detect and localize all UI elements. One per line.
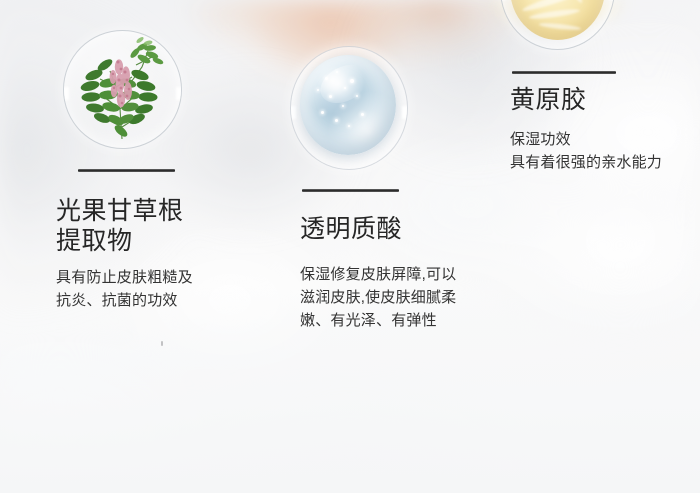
divider-line-hyaluronic bbox=[302, 189, 399, 192]
sparkle-icon bbox=[356, 95, 358, 97]
ingredient-title-hyaluronic: 透明质酸 bbox=[300, 214, 500, 244]
sparkle-icon bbox=[325, 77, 328, 80]
gum-streak bbox=[529, 8, 581, 21]
ingredient-title-xanthan: 黄原胶 bbox=[510, 85, 700, 115]
divider-line-xanthan bbox=[512, 71, 616, 74]
ingredient-infographic-page: 光果甘草根 提取物 具有防止皮肤粗糙及 抗炎、抗菌的功效 透明质酸 保湿修复皮肤… bbox=[0, 0, 700, 493]
water-droplet-body bbox=[300, 55, 396, 155]
droplet-highlight bbox=[314, 57, 374, 110]
sparkle-icon bbox=[321, 111, 324, 114]
licorice-plant-illustration-icon bbox=[63, 30, 182, 149]
sparkle-icon bbox=[335, 119, 338, 122]
licorice-plant-svg bbox=[64, 31, 181, 148]
gum-streak bbox=[538, 21, 580, 30]
sparkle-icon bbox=[317, 89, 319, 91]
xanthan-gum-body bbox=[510, 0, 605, 40]
xanthan-gum-texture-icon bbox=[500, 0, 615, 50]
image-artifact-dot bbox=[161, 341, 163, 346]
ingredient-description-xanthan: 保湿功效 具有着很强的亲水能力 bbox=[510, 128, 700, 174]
sparkle-icon bbox=[348, 125, 350, 127]
divider-line-licorice bbox=[78, 169, 175, 172]
sparkle-icon bbox=[329, 95, 332, 98]
sparkle-icon bbox=[342, 105, 344, 107]
water-droplet-sphere-icon bbox=[290, 46, 408, 170]
sparkle-icon bbox=[350, 79, 354, 83]
ingredient-description-licorice: 具有防止皮肤粗糙及 抗炎、抗菌的功效 bbox=[56, 266, 276, 312]
sparkle-icon bbox=[361, 113, 364, 116]
ingredient-title-licorice: 光果甘草根 提取物 bbox=[56, 196, 266, 256]
ingredient-description-hyaluronic: 保湿修复皮肤屏障,可以 滋润皮肤,使皮肤细腻柔 嫩、有光泽、有弹性 bbox=[300, 263, 505, 332]
